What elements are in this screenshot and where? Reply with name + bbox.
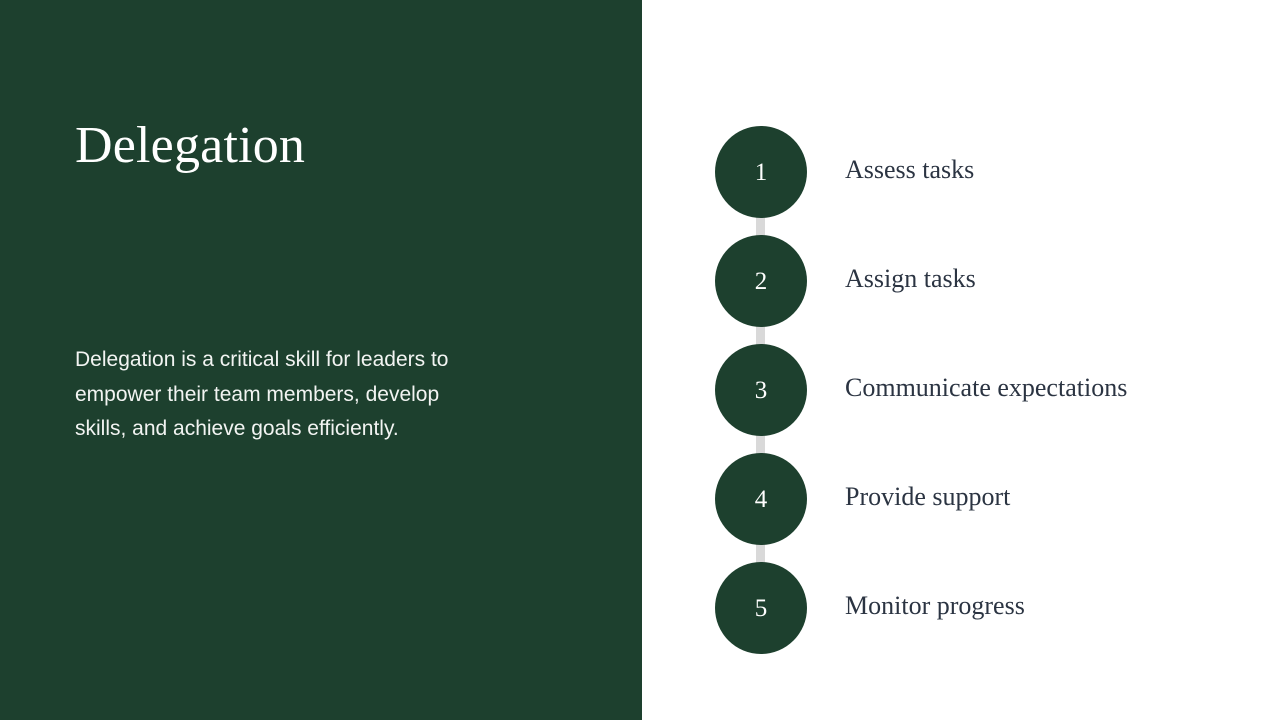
- step-number-badge[interactable]: 4: [715, 453, 807, 545]
- steps-list: 1Assess tasks2Assign tasks3Communicate e…: [642, 0, 1280, 720]
- step-item[interactable]: 5Monitor progress: [642, 562, 1280, 654]
- step-number: 4: [755, 487, 768, 512]
- step-item[interactable]: 1Assess tasks: [642, 126, 1280, 218]
- step-label: Assess tasks: [845, 126, 974, 218]
- step-number: 3: [755, 378, 768, 403]
- step-number-badge[interactable]: 2: [715, 235, 807, 327]
- step-number-badge[interactable]: 1: [715, 126, 807, 218]
- step-item[interactable]: 4Provide support: [642, 453, 1280, 545]
- step-number-badge[interactable]: 5: [715, 562, 807, 654]
- step-item[interactable]: 2Assign tasks: [642, 235, 1280, 327]
- step-label: Communicate expectations: [845, 344, 1127, 436]
- step-label: Monitor progress: [845, 562, 1025, 654]
- step-label: Assign tasks: [845, 235, 976, 327]
- left-panel: Delegation Delegation is a critical skil…: [0, 0, 642, 720]
- step-item[interactable]: 3Communicate expectations: [642, 344, 1280, 436]
- page-title: Delegation: [75, 118, 305, 174]
- step-number: 5: [755, 596, 768, 621]
- step-label: Provide support: [845, 453, 1010, 545]
- slide-body-text: Delegation is a critical skill for leade…: [75, 343, 495, 447]
- step-number: 2: [755, 269, 768, 294]
- step-number-badge[interactable]: 3: [715, 344, 807, 436]
- step-number: 1: [755, 160, 768, 185]
- slide: Delegation Delegation is a critical skil…: [0, 0, 1280, 720]
